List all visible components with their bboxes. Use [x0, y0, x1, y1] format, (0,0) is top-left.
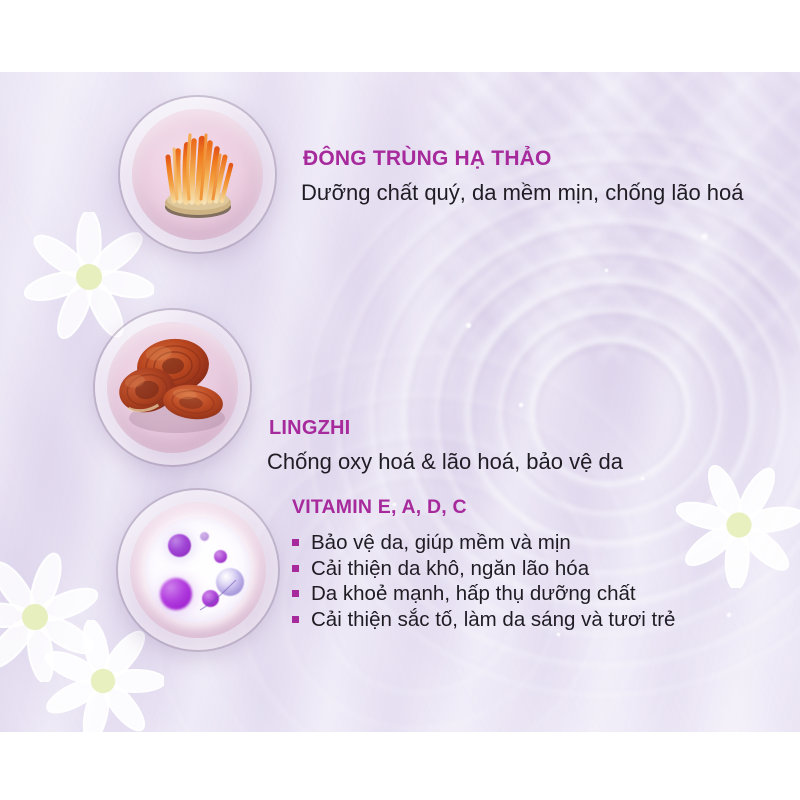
sparkle-dot: [726, 612, 732, 618]
list-item-label: Cải thiện sắc tố, làm da sáng và tươi tr…: [311, 608, 675, 631]
section-body-text: Dưỡng chất quý, da mềm mịn, chống lão ho…: [301, 179, 744, 207]
daisy-flower-right-lower: [676, 462, 800, 588]
droplet-large-upper-left: [168, 534, 191, 557]
quilted-texture-overlay: [430, 72, 800, 362]
droplet-diffusion-halo: [158, 526, 202, 566]
cordyceps-strands: [144, 117, 252, 221]
droplet-small-top: [200, 532, 209, 541]
lingzhi-mushroom-caps: [115, 332, 233, 440]
section-heading: ĐÔNG TRÙNG HẠ THẢO: [303, 147, 744, 170]
droplet-large-lower-left: [160, 578, 192, 610]
daisy-flower-left-upper: [24, 212, 154, 342]
droplet-pale-bubble: [216, 568, 244, 596]
bullet-square-icon: [292, 565, 299, 572]
list-item-label: Da khoẻ mạnh, hấp thụ dưỡng chất: [311, 582, 636, 605]
list-item: Bảo vệ da, giúp mềm và mịn: [292, 530, 675, 556]
sparkle-dot: [556, 632, 561, 637]
sparkle-dot: [465, 322, 472, 329]
section-lingzhi-text: LINGZHI Chống oxy hoá & lão hoá, bảo vệ …: [269, 417, 623, 476]
cordyceps-petri-dish: [120, 97, 275, 252]
list-item: Cải thiện da khô, ngăn lão hóa: [292, 556, 675, 582]
section-heading: VITAMIN E, A, D, C: [292, 497, 675, 518]
bullet-square-icon: [292, 590, 299, 597]
list-item: Cải thiện sắc tố, làm da sáng và tươi tr…: [292, 607, 675, 633]
section-dong-trung-ha-thao-text: ĐÔNG TRÙNG HẠ THẢO Dưỡng chất quý, da mề…: [303, 147, 744, 207]
bullet-square-icon: [292, 539, 299, 546]
sparkle-dot: [640, 476, 645, 481]
top-white-frame: [0, 0, 800, 72]
daisy-flower-bottom-left-near: [42, 620, 164, 732]
bottom-white-frame: [0, 732, 800, 800]
agar-surface: [145, 517, 251, 623]
photo-panel: ĐÔNG TRÙNG HẠ THẢO Dưỡng chất quý, da mề…: [0, 72, 800, 732]
daisy-flower-bottom-left-far: [0, 552, 100, 682]
droplet-medium-bottom: [202, 590, 219, 607]
section-body-text: Chống oxy hoá & lão hoá, bảo vệ da: [267, 448, 623, 476]
list-item-label: Cải thiện da khô, ngăn lão hóa: [311, 557, 589, 580]
section-vitamin-text: VITAMIN E, A, D, C Bảo vệ da, giúp mềm v…: [292, 497, 675, 632]
sparkle-dot: [518, 402, 524, 408]
list-item: Da khoẻ mạnh, hấp thụ dưỡng chất: [292, 581, 675, 607]
droplet-streak: [190, 576, 240, 618]
list-item-label: Bảo vệ da, giúp mềm và mịn: [311, 531, 571, 554]
vitamin-benefit-list: Bảo vệ da, giúp mềm và mịn Cải thiện da …: [292, 530, 675, 632]
section-heading: LINGZHI: [269, 417, 623, 439]
bullet-square-icon: [292, 616, 299, 623]
droplet-small-right: [214, 550, 227, 563]
vitamin-droplets-petri-dish: [118, 490, 278, 650]
sparkle-dot: [604, 268, 609, 273]
ingredient-infographic-poster: ĐÔNG TRÙNG HẠ THẢO Dưỡng chất quý, da mề…: [0, 0, 800, 800]
sparkle-dot: [700, 232, 709, 241]
droplet-diffusion-halo: [150, 570, 206, 620]
lingzhi-mushroom-petri-dish: [95, 310, 250, 465]
